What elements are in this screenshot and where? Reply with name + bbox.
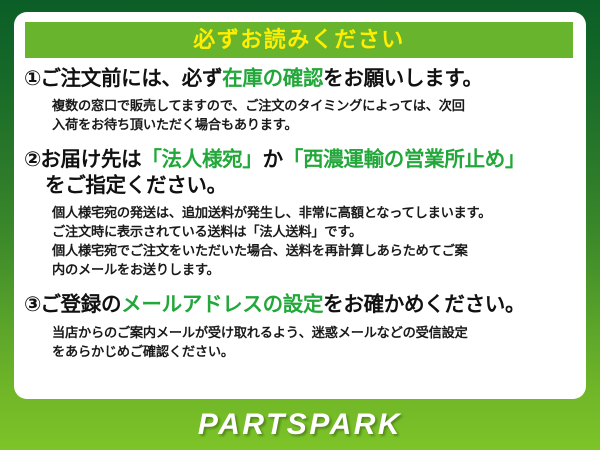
- notice-item-list: ①ご注文前には、必ず在庫の確認をお願いします。複数の窓口で販売してますので、ご注…: [14, 66, 586, 361]
- notice-item: ①ご注文前には、必ず在庫の確認をお願いします。複数の窓口で販売してますので、ご注…: [14, 66, 586, 134]
- notice-item-detail-line: 複数の窓口で販売してますので、ご注文のタイミングによっては、次回: [24, 96, 578, 115]
- white-panel: 必ずお読みください ①ご注文前には、必ず在庫の確認をお願いします。複数の窓口で販…: [14, 12, 586, 399]
- partspark-wordmark: PARTSPARK: [198, 410, 402, 440]
- notice-item-detail-line: をあらかじめご確認ください。: [24, 342, 578, 361]
- notice-item: ②お届け先は「法人様宛」か「西濃運輸の営業所止め」をご指定ください。個人様宅宛の…: [14, 147, 586, 279]
- notice-item-number: ③: [24, 293, 40, 316]
- notice-item-detail-line: 入荷をお待ち頂いただく場合もあります。: [24, 115, 578, 134]
- heading-text: をお願いします。: [323, 67, 483, 90]
- notice-item-heading: ②お届け先は「法人様宛」か「西濃運輸の営業所止め」: [24, 147, 578, 172]
- notice-item-detail-line: 個人様宅宛でご注文をいただいた場合、送料を再計算しあらためてご案: [24, 241, 578, 260]
- heading-text: をお確かめください。: [323, 293, 525, 316]
- footer-band: PARTSPARK: [0, 399, 600, 450]
- banner-title: 必ずお読みください: [193, 29, 405, 51]
- notice-item-detail-line: 内のメールをお送りします。: [24, 260, 578, 279]
- notice-item: ③ご登録のメールアドレスの設定をお確かめください。当店からのご案内メールが受け取…: [14, 292, 586, 360]
- heading-text: か: [263, 148, 283, 171]
- heading-highlight: 「西濃運輸の営業所止め」: [283, 148, 525, 171]
- heading-highlight: 「法人様宛」: [141, 148, 262, 171]
- notice-item-heading: ③ご登録のメールアドレスの設定をお確かめください。: [24, 292, 578, 317]
- notice-item-detail-line: 当店からのご案内メールが受け取れるよう、迷惑メールなどの受信設定: [24, 323, 578, 342]
- spacer: [14, 279, 586, 292]
- notice-item-number: ②: [24, 148, 40, 171]
- heading-text: ご登録の: [40, 293, 121, 316]
- heading-text: お届け先は: [40, 148, 141, 171]
- title-banner: 必ずお読みください: [25, 22, 573, 58]
- notice-item-number: ①: [24, 67, 40, 90]
- notice-item-heading-cont: をご指定ください。: [24, 173, 578, 198]
- notice-item-heading: ①ご注文前には、必ず在庫の確認をお願いします。: [24, 66, 578, 91]
- notice-item-detail-line: 個人様宅宛の発送は、追加送料が発生し、非常に高額となってしまいます。: [24, 203, 578, 222]
- heading-highlight: 在庫の確認: [222, 67, 323, 90]
- notice-item-detail-line: ご注文時に表示されている送料は「法人送料」です。: [24, 222, 578, 241]
- heading-text: ご注文前には、必ず: [40, 67, 222, 90]
- heading-highlight: メールアドレスの設定: [121, 293, 323, 316]
- spacer: [14, 134, 586, 147]
- notice-graphic: 必ずお読みください ①ご注文前には、必ず在庫の確認をお願いします。複数の窓口で販…: [0, 0, 600, 450]
